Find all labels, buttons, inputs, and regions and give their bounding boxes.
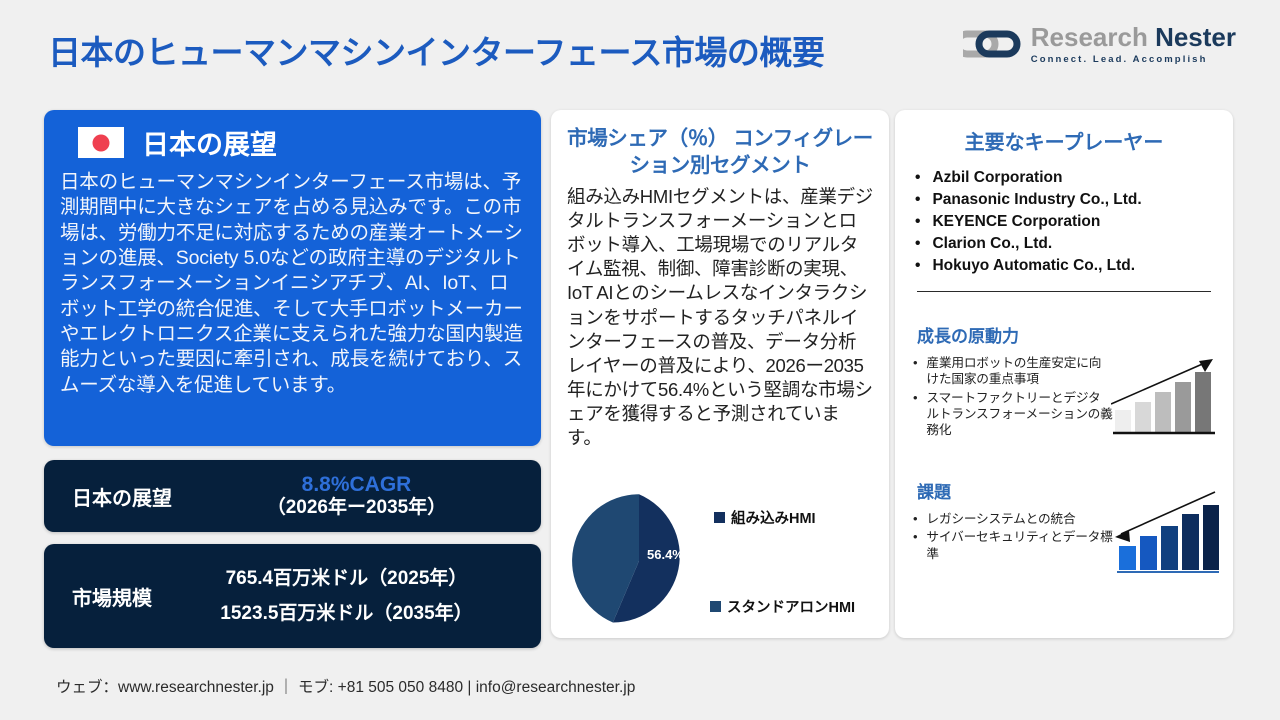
- growth-drivers-list: •産業用ロボットの生産安定に向けた国家の重点事項 •スマートファクトリーとデジタ…: [913, 355, 1113, 438]
- key-players-title: 主要なキープレーヤー: [909, 126, 1219, 155]
- page-title: 日本のヒューマンマシンインターフェース市場の概要: [48, 26, 824, 74]
- right-column: 主要なキープレーヤー •Azbil Corporation •Panasonic…: [895, 110, 1233, 638]
- list-item: •産業用ロボットの生産安定に向けた国家の重点事項: [913, 355, 1113, 388]
- market-size-values: 765.4百万米ドル（2025年） 1523.5百万米ドル（2035年）: [152, 561, 541, 631]
- japan-outlook-panel: 日本の展望 日本のヒューマンマシンインターフェース市場は、予測期間中に大きなシェ…: [44, 110, 541, 446]
- player-name: Hokuyo Automatic Co., Ltd.: [932, 255, 1135, 277]
- logo-text: Research Nester Connect. Lead. Accomplis…: [1031, 24, 1236, 65]
- bullet-icon: •: [913, 390, 917, 439]
- logo-name-nester: Nester: [1155, 22, 1236, 52]
- legend-item-standalone: スタンドアロンHMI: [710, 596, 855, 617]
- logo-name: Research Nester: [1031, 24, 1236, 50]
- header: 日本のヒューマンマシンインターフェース市場の概要 Research Nester…: [0, 0, 1280, 96]
- legend-label-standalone: スタンドアロンHMI: [727, 596, 855, 617]
- bullet-icon: •: [913, 355, 917, 388]
- list-item: •スマートファクトリーとデジタルトランスフォーメーションの義務化: [913, 390, 1113, 439]
- segment-column: 市場シェア（％） コンフィグレーション別セグメント 組み込みHMIセグメントは、…: [551, 110, 889, 638]
- bullet-icon: •: [915, 167, 920, 189]
- ascending-bar-chart-down-arrow-icon: [1111, 486, 1221, 576]
- market-share-pie-chart: 56.4% 組み込みHMI スタンドアロンHMI: [551, 482, 889, 638]
- segment-text-block: 市場シェア（％） コンフィグレーション別セグメント 組み込みHMIセグメントは、…: [551, 110, 889, 450]
- japan-outlook-body: 日本のヒューマンマシンインターフェース市場は、予測期間中に大きなシェアを占める見…: [58, 168, 527, 398]
- cagr-period: （2026年ー2035年）: [172, 497, 541, 520]
- japan-outlook-title: 日本の展望: [142, 123, 277, 162]
- player-name: KEYENCE Corporation: [932, 211, 1100, 233]
- list-item: •KEYENCE Corporation: [915, 211, 1219, 233]
- section-divider: [917, 291, 1211, 292]
- brand-logo: Research Nester Connect. Lead. Accomplis…: [963, 24, 1236, 65]
- list-item: •Azbil Corporation: [915, 167, 1219, 189]
- bullet-icon: •: [915, 189, 920, 211]
- bullet-icon: •: [915, 255, 920, 277]
- key-players-block: 主要なキープレーヤー •Azbil Corporation •Panasonic…: [895, 110, 1233, 292]
- cagr-card-values: 8.8%CAGR （2026年ー2035年）: [172, 473, 541, 520]
- research-nester-logo-icon: [963, 24, 1021, 64]
- growth-driver-text: 産業用ロボットの生産安定に向けた国家の重点事項: [926, 355, 1113, 388]
- pie-data-label: 56.4%: [647, 547, 684, 562]
- challenge-text: レガシーシステムとの統合: [926, 511, 1075, 527]
- challenge-text: サイバーセキュリティとデータ標準: [926, 529, 1113, 562]
- legend-label-embedded: 組み込みHMI: [731, 507, 816, 528]
- market-size-card: 市場規模 765.4百万米ドル（2025年） 1523.5百万米ドル（2035年…: [44, 544, 541, 648]
- ascending-bar-chart-up-arrow-icon: [1111, 348, 1221, 438]
- player-name: Clarion Co., Ltd.: [932, 233, 1052, 255]
- bullet-icon: •: [915, 233, 920, 255]
- segment-title: 市場シェア（％） コンフィグレーション別セグメント: [567, 126, 873, 179]
- cagr-card: 日本の展望 8.8%CAGR （2026年ー2035年）: [44, 460, 541, 532]
- list-item: •サイバーセキュリティとデータ標準: [913, 529, 1113, 562]
- legend-item-embedded: 組み込みHMI: [714, 507, 816, 528]
- legend-swatch-embedded: [714, 512, 725, 523]
- player-name: Azbil Corporation: [932, 167, 1062, 189]
- market-size-label: 市場規模: [44, 582, 152, 611]
- infographic-page: 日本のヒューマンマシンインターフェース市場の概要 Research Nester…: [0, 0, 1280, 720]
- growth-driver-text: スマートファクトリーとデジタルトランスフォーメーションの義務化: [926, 390, 1113, 439]
- left-column: 日本の展望 日本のヒューマンマシンインターフェース市場は、予測期間中に大きなシェ…: [44, 110, 541, 648]
- logo-tagline: Connect. Lead. Accomplish: [1031, 55, 1236, 65]
- footer-contact: ウェブ：www.researchnester.jp ｜ モブ: +81 505 …: [56, 675, 635, 697]
- japan-outlook-header: 日本の展望: [58, 120, 527, 168]
- japan-flag-icon: [78, 127, 124, 158]
- pie-chart-graphic: [568, 490, 710, 632]
- growth-drivers-title: 成長の原動力: [895, 322, 1233, 347]
- list-item: •Panasonic Industry Co., Ltd.: [915, 189, 1219, 211]
- segment-card: 市場シェア（％） コンフィグレーション別セグメント 組み込みHMIセグメントは、…: [551, 110, 889, 638]
- challenges-list: •レガシーシステムとの統合 •サイバーセキュリティとデータ標準: [913, 511, 1113, 562]
- cagr-value: 8.8%CAGR: [172, 473, 541, 497]
- legend-swatch-standalone: [710, 601, 721, 612]
- bullet-icon: •: [913, 511, 917, 527]
- bullet-icon: •: [915, 211, 920, 233]
- list-item: •Hokuyo Automatic Co., Ltd.: [915, 255, 1219, 277]
- list-item: •レガシーシステムとの統合: [913, 511, 1113, 527]
- bullet-icon: •: [913, 529, 917, 562]
- market-size-2025: 765.4百万米ドル（2025年）: [152, 561, 541, 596]
- segment-body: 組み込みHMIセグメントは、産業デジタルトランスフォーメーションとロボット導入、…: [567, 185, 873, 450]
- key-players-list: •Azbil Corporation •Panasonic Industry C…: [915, 167, 1219, 277]
- list-item: •Clarion Co., Ltd.: [915, 233, 1219, 255]
- market-size-2035: 1523.5百万米ドル（2035年）: [152, 596, 541, 631]
- logo-name-research: Research: [1031, 22, 1155, 52]
- growth-drivers-block: 成長の原動力 •産業用ロボットの生産安定に向けた国家の重点事項 •スマートファク…: [895, 322, 1233, 478]
- player-name: Panasonic Industry Co., Ltd.: [932, 189, 1141, 211]
- challenges-block: 課題 •レガシーシステムとの統合 •サイバーセキュリティとデータ標準: [895, 478, 1233, 628]
- players-and-drivers-card: 主要なキープレーヤー •Azbil Corporation •Panasonic…: [895, 110, 1233, 638]
- cagr-card-label: 日本の展望: [44, 482, 172, 511]
